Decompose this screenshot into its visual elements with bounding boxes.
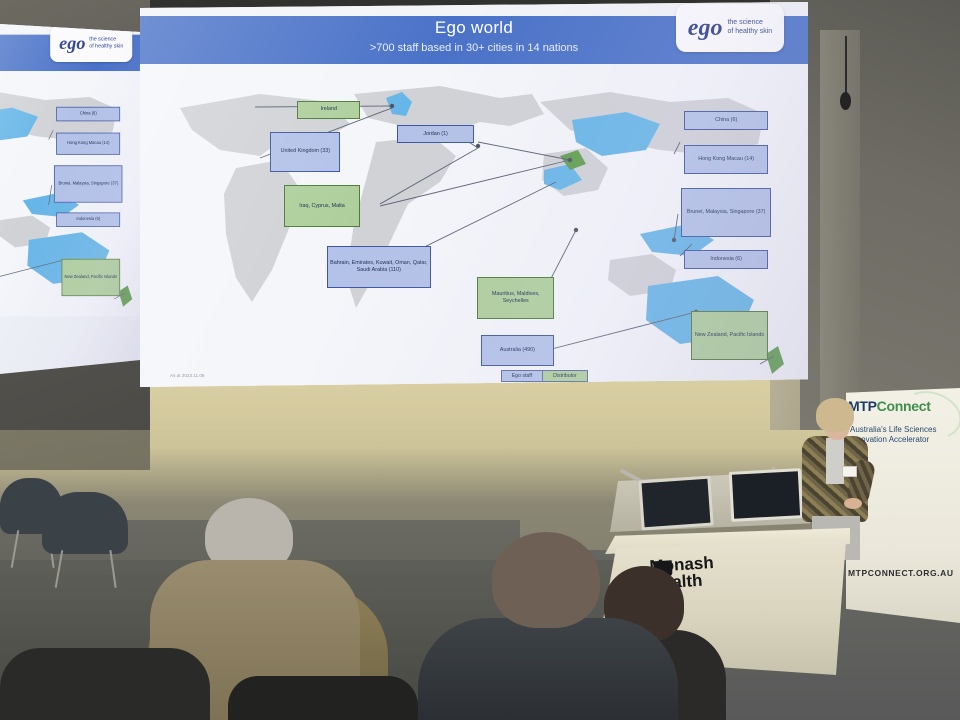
map-label-brunei: Brunei, Malaysia, Singapore (37) [681, 188, 771, 236]
map-label-jordan: Jordan (1) [397, 125, 474, 143]
map-label-indian_ocean: Mauritius, Maldives, Seychelles [477, 277, 554, 319]
country-nz [766, 346, 784, 374]
map-label-uk: United Kingdom (33) [270, 132, 340, 172]
speaker-hand [844, 498, 862, 509]
slide-main: Ego world >700 staff based in 30+ cities… [140, 2, 808, 387]
ego-wordmark: ego [688, 16, 723, 40]
ego-wordmark-secondary: ego [59, 35, 85, 53]
screenshot-root: Ego world >700 staff based in 30+ cities… [0, 0, 960, 720]
ego-logo-secondary: ego the science of healthy skin [50, 26, 132, 62]
ego-tagline-line2: of healthy skin [727, 28, 772, 35]
ego-tagline-line1: the science [727, 19, 762, 26]
speaker-top [826, 438, 844, 484]
legend-ego-staff: Ego staff [501, 370, 543, 382]
ego-tagline: the science of healthy skin [727, 19, 772, 37]
map-label-gulf: Bahrain, Emirates, Kuwait, Oman, Qatar, … [327, 246, 431, 288]
chair [42, 492, 128, 554]
world-map-area: IrelandUnited Kingdom (33)Jordan (1)Iraq… [140, 64, 808, 387]
map-label-newzealand: New Zealand, Pacific Islands [691, 311, 768, 359]
map-label-ireland: Ireland [297, 101, 360, 119]
map-legend: Ego staff Distributor [501, 370, 588, 382]
map-label-hongkong: Hong Kong Macau (14) [684, 145, 768, 174]
map-label-indonesia: Indonesia (6) [57, 212, 120, 227]
wall-panel [820, 30, 860, 430]
name-badge [842, 466, 857, 477]
slide-secondary: ego the science of healthy skin [0, 24, 150, 317]
ceiling-microphone-boom [845, 36, 847, 96]
as-at-date: As at 2023.11.06 [170, 373, 204, 378]
ceiling-microphone-icon [840, 92, 851, 110]
world-map-area-secondary: China (6)Hong Kong Macau (14)Brunei, Mal… [0, 71, 150, 316]
confidence-monitor [729, 468, 804, 522]
foreground-seat [228, 676, 418, 720]
foreground-seat [0, 648, 210, 720]
map-label-indonesia: Indonesia (6) [684, 250, 768, 269]
map-label-australia: Australia (490) [481, 335, 554, 366]
banner-title-suffix: Connect [877, 398, 931, 414]
main-projection-screen: Ego world >700 staff based in 30+ cities… [140, 2, 808, 387]
map-label-hongkong: Hong Kong Macau (14) [57, 132, 120, 154]
map-label-brunei: Brunei, Malaysia, Singapore (37) [54, 166, 123, 203]
confidence-monitor [638, 476, 713, 531]
audience-person-head [492, 532, 600, 628]
banner-url: MTPCONNECT.ORG.AU [848, 568, 960, 578]
ego-tagline-secondary: the science of healthy skin [89, 37, 123, 50]
map-label-iraq: Iraq, Cyprus, Malta [284, 185, 361, 227]
speaker-hair [816, 398, 854, 432]
map-label-china: China (6) [57, 107, 120, 122]
map-label-china: China (6) [684, 111, 768, 130]
legend-distributor: Distributor [543, 370, 588, 382]
ego-tagline-secondary-line2: of healthy skin [89, 44, 123, 49]
map-label-newzealand: New Zealand, Pacific Islands [62, 259, 120, 296]
secondary-projection-screen: ego the science of healthy skin [0, 24, 140, 374]
ego-tagline-secondary-line1: the science [89, 37, 116, 42]
ego-logo: ego the science of healthy skin [676, 4, 784, 52]
audience-person-body [418, 618, 678, 720]
